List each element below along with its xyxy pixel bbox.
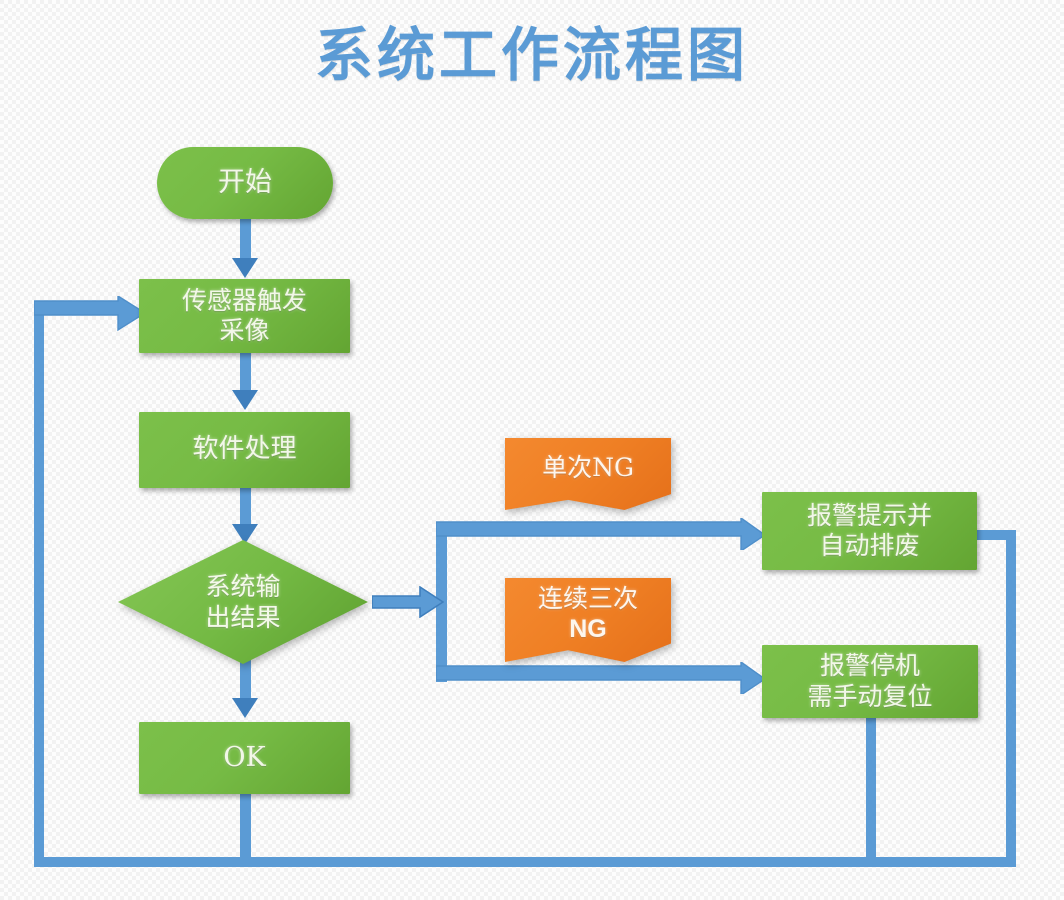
node-sensor-trigger-line1: 传感器触发: [182, 286, 307, 317]
node-alarm-stop-manual-reset[interactable]: 报警停机 需手动复位: [762, 645, 978, 718]
node-start[interactable]: 开始: [157, 147, 333, 219]
node-decision-line1: 系统输: [205, 571, 280, 602]
node-triple-ng-label: 连续三次 NG: [505, 582, 671, 646]
node-start-label: 开始: [218, 167, 272, 200]
node-decision-line2: 出结果: [205, 602, 280, 633]
connector-alarm-stop-down: [866, 714, 876, 865]
connector-left-rail-vertical: [34, 306, 44, 862]
node-single-ng-label: 单次NG: [505, 442, 671, 494]
node-software-processing[interactable]: 软件处理: [139, 412, 350, 488]
connector-branch-to-alarm-stop: [436, 662, 766, 694]
node-alarm-auto-reject-line2: 自动排废: [819, 531, 919, 562]
node-sensor-trigger[interactable]: 传感器触发 采像: [139, 279, 350, 353]
connector-ok-down: [240, 790, 251, 865]
arrowhead-sensor-to-software: [232, 390, 258, 410]
node-alarm-stop-manual-reset-line2: 需手动复位: [807, 682, 932, 713]
connector-branch-to-alarm-auto: [436, 518, 766, 550]
node-triple-ng-line1: 连续三次: [538, 584, 638, 614]
node-triple-ng-banner[interactable]: 连续三次 NG: [505, 578, 671, 662]
node-alarm-stop-manual-reset-line1: 报警停机: [820, 651, 920, 682]
arrowhead-decision-to-ok: [232, 698, 258, 718]
page-title: 系统工作流程图: [0, 8, 1064, 92]
connector-right-rail-vertical: [1006, 530, 1016, 865]
flowchart-canvas: 系统工作流程图: [0, 0, 1064, 900]
node-software-processing-label: 软件处理: [192, 434, 296, 466]
node-triple-ng-line2: NG: [538, 614, 638, 644]
node-single-ng-banner[interactable]: 单次NG: [505, 438, 671, 510]
connector-feedback-into-sensor: [34, 296, 146, 332]
node-sensor-trigger-line2: 采像: [219, 316, 269, 347]
node-ok-label: OK: [223, 742, 265, 775]
node-alarm-auto-reject-line1: 报警提示并: [807, 501, 932, 532]
node-alarm-auto-reject[interactable]: 报警提示并 自动排废: [762, 492, 977, 570]
arrowhead-start-to-sensor: [232, 258, 258, 278]
node-ok[interactable]: OK: [139, 722, 350, 794]
connector-decision-to-branch: [372, 586, 444, 618]
node-decision-system-output[interactable]: 系统输 出结果: [118, 540, 368, 664]
connector-bottom-rail: [34, 857, 1016, 867]
node-decision-label: 系统输 出结果: [118, 540, 368, 664]
